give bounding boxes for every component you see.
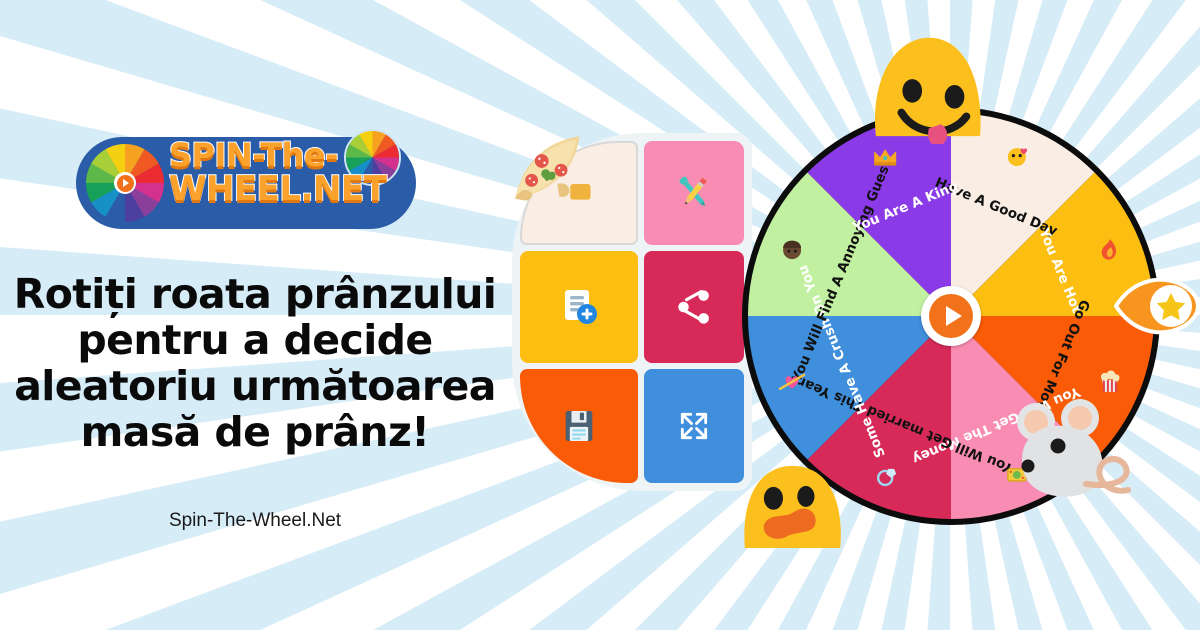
logo-line-2: WHEEL.NET: [169, 174, 409, 205]
pizza-preview-tile[interactable]: [520, 141, 638, 245]
logo-play-hub: [114, 172, 136, 194]
save-wheel-tile[interactable]: [520, 369, 638, 483]
edit-wheel-tile[interactable]: [644, 141, 744, 245]
new-wheel-tile[interactable]: [520, 251, 638, 363]
site-logo[interactable]: SPIN-The- WHEEL.NET: [76, 133, 424, 233]
poster-canvas: SPIN-The- WHEEL.NET Rotiți roata prânzul…: [0, 0, 1200, 630]
floppy-save-icon: [559, 406, 599, 446]
logo-wordmark: SPIN-The- WHEEL.NET: [169, 141, 409, 204]
person-icon: [783, 241, 801, 260]
document-plus-icon: [555, 283, 603, 331]
logo-play-icon: [117, 175, 134, 192]
prize-wheel[interactable]: Have A Good DayYou Are HotGo Out For Mov…: [742, 107, 1160, 525]
page-headline: Rotiți roata prânzului pentru a decide a…: [0, 272, 510, 456]
money-icon: [1008, 469, 1026, 481]
wheel-spin-button[interactable]: [921, 286, 981, 346]
fullscreen-tile[interactable]: [644, 369, 744, 483]
expand-arrows-icon: [674, 406, 714, 446]
play-icon: [929, 294, 973, 338]
logo-main-wheel: [86, 144, 164, 222]
share-icon: [673, 286, 715, 328]
site-url-caption: Spin-The-Wheel.Net: [0, 510, 510, 532]
tools-pencil-icon: [671, 170, 717, 216]
wheel-pointer: [1114, 275, 1200, 337]
wheel-tools-panel: [512, 133, 752, 491]
logo-line-1: SPIN-The-: [169, 141, 409, 170]
share-wheel-tile[interactable]: [644, 251, 744, 363]
